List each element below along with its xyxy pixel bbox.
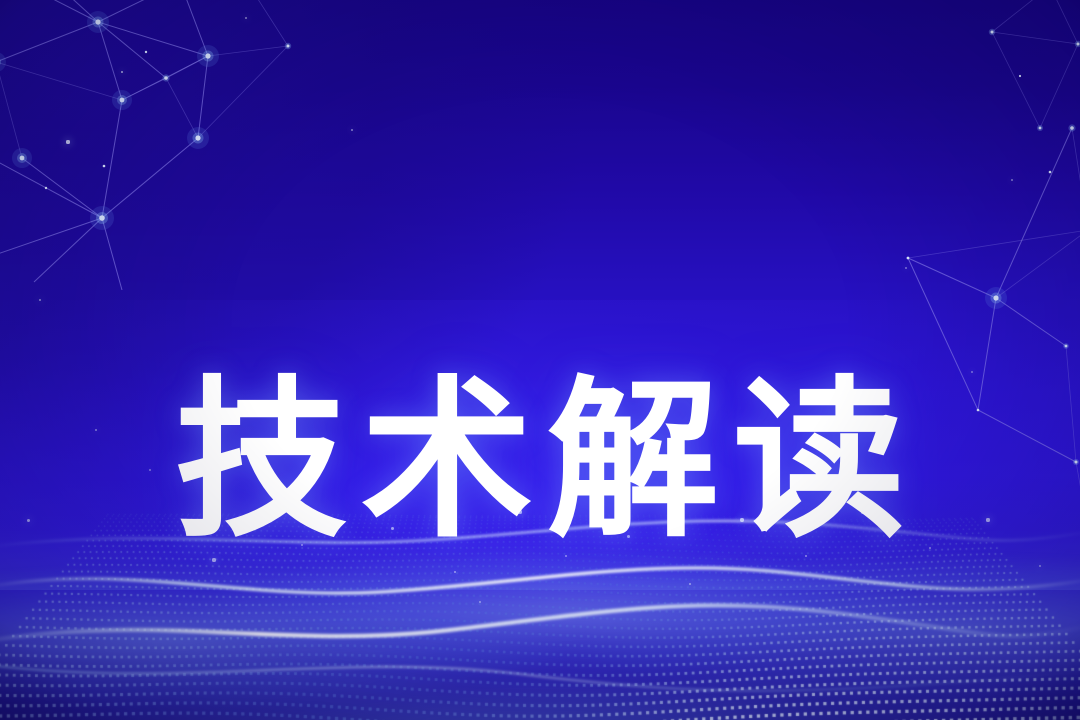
page-title: 技术解读 bbox=[0, 367, 1080, 555]
tech-banner: 技术解读 bbox=[0, 0, 1080, 720]
background-gradient bbox=[0, 0, 1080, 720]
